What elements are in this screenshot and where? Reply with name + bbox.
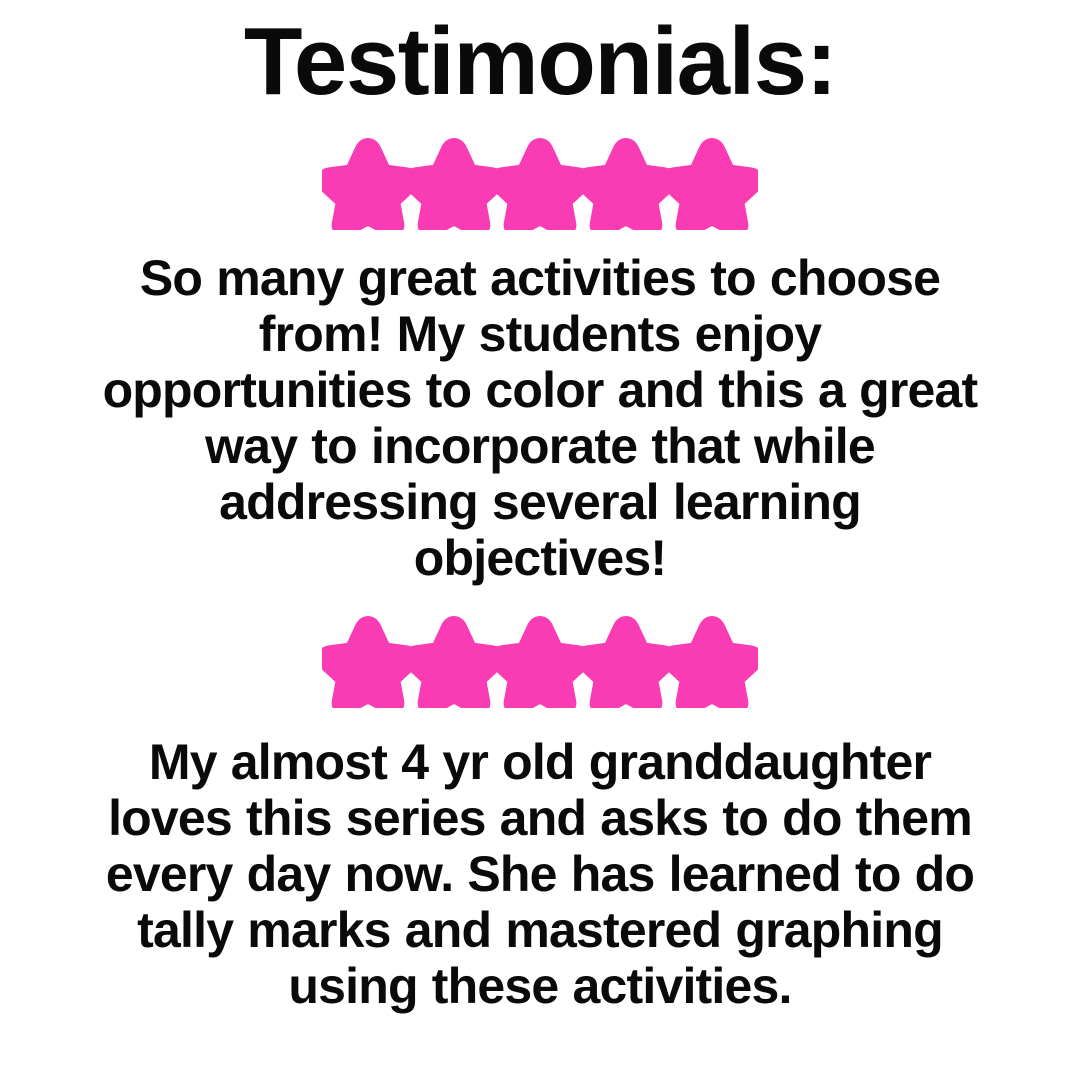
testimonial-text-two: My almost 4 yr old granddaughter loves t…	[60, 734, 1020, 1014]
star-icon	[322, 138, 414, 230]
star-icon	[408, 616, 500, 708]
star-icon	[322, 616, 414, 708]
testimonial-line: tally marks and mastered graphing	[60, 902, 1020, 958]
testimonial-line: opportunities to color and this a great	[50, 362, 1030, 418]
testimonial-line: objectives!	[50, 530, 1030, 586]
star-rating-row-two	[0, 616, 1080, 708]
page-title: Testimonials:	[0, 8, 1080, 116]
testimonial-line: My almost 4 yr old granddaughter	[60, 734, 1020, 790]
star-icon	[666, 616, 758, 708]
testimonial-line: addressing several learning	[50, 474, 1030, 530]
testimonial-line: way to incorporate that while	[50, 418, 1030, 474]
star-icon	[494, 138, 586, 230]
star-icon	[494, 616, 586, 708]
testimonial-line: So many great activities to choose	[50, 250, 1030, 306]
star-icon	[408, 138, 500, 230]
testimonial-line: loves this series and asks to do them	[60, 790, 1020, 846]
star-icon	[580, 616, 672, 708]
testimonial-line: every day now. She has learned to do	[60, 846, 1020, 902]
testimonial-line: using these activities.	[60, 958, 1020, 1014]
testimonials-page: Testimonials: So many great activities t…	[0, 0, 1080, 1080]
testimonial-text-one: So many great activities to choose from!…	[50, 250, 1030, 586]
testimonial-line: from! My students enjoy	[50, 306, 1030, 362]
star-icon	[580, 138, 672, 230]
star-rating-row-one	[0, 138, 1080, 230]
star-icon	[666, 138, 758, 230]
